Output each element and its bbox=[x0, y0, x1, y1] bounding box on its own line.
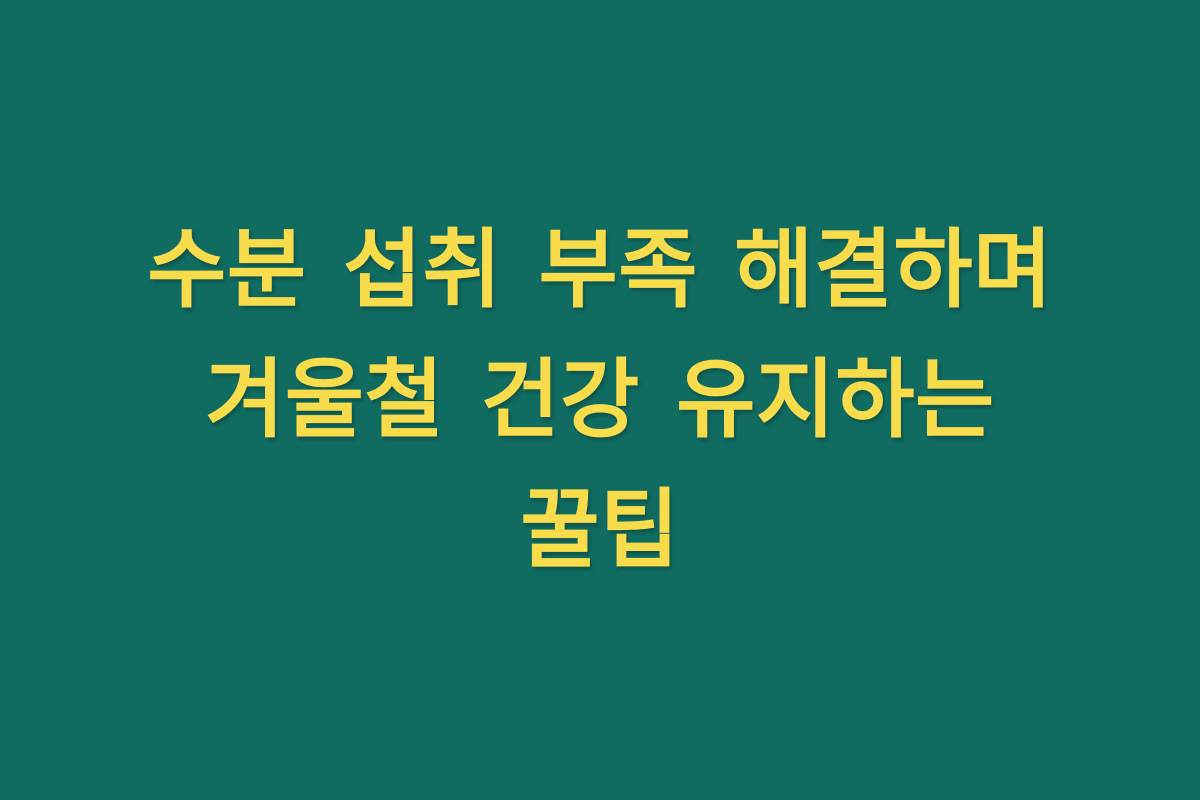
page-title: 수분 섭취 부족 해결하며 겨울철 건강 유지하는 꿀팁 bbox=[35, 205, 1165, 595]
headline-line-2: 겨울철 건강 유지하는 bbox=[35, 335, 1165, 465]
headline-line-1: 수분 섭취 부족 해결하며 bbox=[35, 205, 1165, 335]
headline-line-3: 꿀팁 bbox=[35, 465, 1165, 595]
banner-canvas: 수분 섭취 부족 해결하며 겨울철 건강 유지하는 꿀팁 bbox=[0, 0, 1200, 800]
